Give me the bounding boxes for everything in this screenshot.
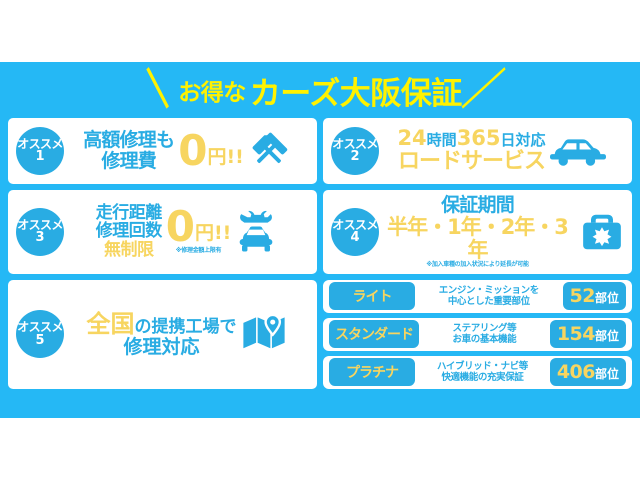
- plan-count-unit: 部位: [595, 365, 619, 382]
- plan-count-value: 52: [570, 285, 595, 307]
- medical-bag-icon: [580, 211, 624, 253]
- plan-desc-standard-line2: お車の基本機能: [424, 334, 545, 345]
- feature-card-1: オススメ 1 高額修理も 修理費 0 円!!: [8, 118, 317, 184]
- badge-number: 4: [350, 231, 359, 244]
- card-3-amount-unit: 円!!: [195, 218, 231, 245]
- slash-right-icon: ／: [460, 69, 506, 112]
- card-3-amount: 0 円!!: [166, 209, 232, 245]
- plan-desc-standard-line1: ステアリング等: [424, 323, 545, 334]
- card-4-line2: 半年・1年・2年・3年: [379, 216, 576, 262]
- card-2-days: 365: [457, 126, 501, 150]
- card-1-amount: 0 円!!: [178, 133, 244, 169]
- card-3-line2: 修理回数: [96, 222, 162, 241]
- plan-row-standard[interactable]: スタンダード ステアリング等 お車の基本機能 154 部位: [323, 318, 632, 351]
- warranty-poster: ＼ お得な カーズ大阪保証 ／ オススメ 1 高額修理も 修理費 0 円!!: [0, 62, 640, 418]
- card-1-line1: 高額修理も: [83, 130, 174, 151]
- title-main: カーズ大阪保証: [250, 68, 462, 113]
- feature-card-4: オススメ 4 保証期間 半年・1年・2年・3年 ※加入車種の加入状況により延長が…: [323, 190, 632, 274]
- plan-count-value: 154: [557, 323, 595, 345]
- card-3-line1: 走行距離: [96, 204, 162, 223]
- card-5-nationwide: 全国: [87, 310, 135, 338]
- badge-number: 3: [35, 231, 44, 244]
- badge-1: オススメ 1: [16, 127, 64, 175]
- card-2-text: 24時間365日対応 ロードサービス: [397, 127, 545, 174]
- plan-desc-light: エンジン・ミッションを 中心とした重要部位: [420, 285, 558, 308]
- map-pin-icon: [241, 313, 287, 355]
- badge-number: 1: [35, 150, 44, 163]
- feature-card-5: オススメ 5 全国の提携工場で 修理対応: [8, 280, 317, 389]
- card-2-line2: ロードサービス: [397, 150, 545, 174]
- card-5-line2: 修理対応: [87, 337, 237, 358]
- card-4-note: ※加入車種の加入状況により延長が可能: [379, 262, 576, 269]
- poster-title: ＼ お得な カーズ大阪保証 ／: [0, 62, 640, 118]
- badge-4: オススメ 4: [331, 208, 379, 256]
- card-2-days-unit: 日対応: [501, 131, 546, 149]
- plan-list: ライト エンジン・ミッションを 中心とした重要部位 52 部位 スタンダード ス…: [323, 280, 632, 389]
- plan-count-light: 52 部位: [563, 282, 626, 310]
- plan-count-platinum: 406 部位: [550, 358, 626, 386]
- card-1-amount-unit: 円!!: [207, 142, 243, 169]
- card-4-text: 保証期間 半年・1年・2年・3年 ※加入車種の加入状況により延長が可能: [379, 195, 576, 269]
- car-side-icon: [550, 134, 606, 168]
- plan-row-platinum[interactable]: プラチナ ハイブリッド・ナビ等 快適機能の充実保証 406 部位: [323, 356, 632, 389]
- card-1-amount-value: 0: [178, 133, 207, 169]
- badge-number: 2: [350, 150, 359, 163]
- plan-desc-light-line2: 中心とした重要部位: [420, 296, 558, 307]
- card-5-text: 全国の提携工場で 修理対応: [87, 311, 237, 358]
- plan-desc-standard: ステアリング等 お車の基本機能: [424, 323, 545, 346]
- plan-count-value: 406: [557, 361, 595, 383]
- card-2-line1: 24時間365日対応: [397, 127, 545, 150]
- card-2-hours-unit: 時間: [427, 131, 457, 149]
- card-3-amount-value: 0: [166, 209, 195, 245]
- card-3-note: ※修理金額上限有: [176, 245, 221, 254]
- card-5-line1: 全国の提携工場で: [87, 311, 237, 337]
- plan-desc-platinum-line2: 快適機能の充実保証: [420, 372, 545, 383]
- card-1-text: 高額修理も 修理費: [83, 130, 174, 172]
- plan-count-unit: 部位: [595, 327, 619, 344]
- badge-label: オススメ: [17, 321, 63, 333]
- card-2-hours: 24: [397, 126, 426, 150]
- plan-name-light: ライト: [329, 282, 415, 310]
- plan-name-standard: スタンダード: [329, 320, 419, 348]
- plan-desc-platinum: ハイブリッド・ナビ等 快適機能の充実保証: [420, 361, 545, 384]
- wrench-car-icon: [235, 209, 277, 255]
- plan-name-platinum: プラチナ: [329, 358, 415, 386]
- card-3-text: 走行距離 修理回数 無制限: [96, 204, 162, 260]
- badge-number: 5: [35, 334, 44, 347]
- badge-5: オススメ 5: [16, 310, 64, 358]
- plan-count-unit: 部位: [595, 289, 619, 306]
- card-3-line3: 無制限: [96, 241, 162, 260]
- crossed-hammers-icon: [248, 130, 290, 172]
- card-1-line2: 修理費: [83, 151, 174, 172]
- feature-card-2: オススメ 2 24時間365日対応 ロードサービス: [323, 118, 632, 184]
- plan-count-standard: 154 部位: [550, 320, 626, 348]
- plan-desc-platinum-line1: ハイブリッド・ナビ等: [420, 361, 545, 372]
- title-prefix: お得な: [178, 73, 246, 107]
- plan-desc-light-line1: エンジン・ミッションを: [420, 285, 558, 296]
- feature-grid: オススメ 1 高額修理も 修理費 0 円!!: [0, 118, 640, 389]
- plan-row-light[interactable]: ライト エンジン・ミッションを 中心とした重要部位 52 部位: [323, 280, 632, 313]
- card-5-line1-rest: の提携工場で: [135, 317, 237, 337]
- badge-2: オススメ 2: [331, 127, 379, 175]
- badge-3: オススメ 3: [16, 208, 64, 256]
- feature-card-3: オススメ 3 走行距離 修理回数 無制限 0 円!! ※修理金額上限有: [8, 190, 317, 274]
- card-4-line1: 保証期間: [379, 195, 576, 216]
- slash-left-icon: ＼: [134, 69, 180, 112]
